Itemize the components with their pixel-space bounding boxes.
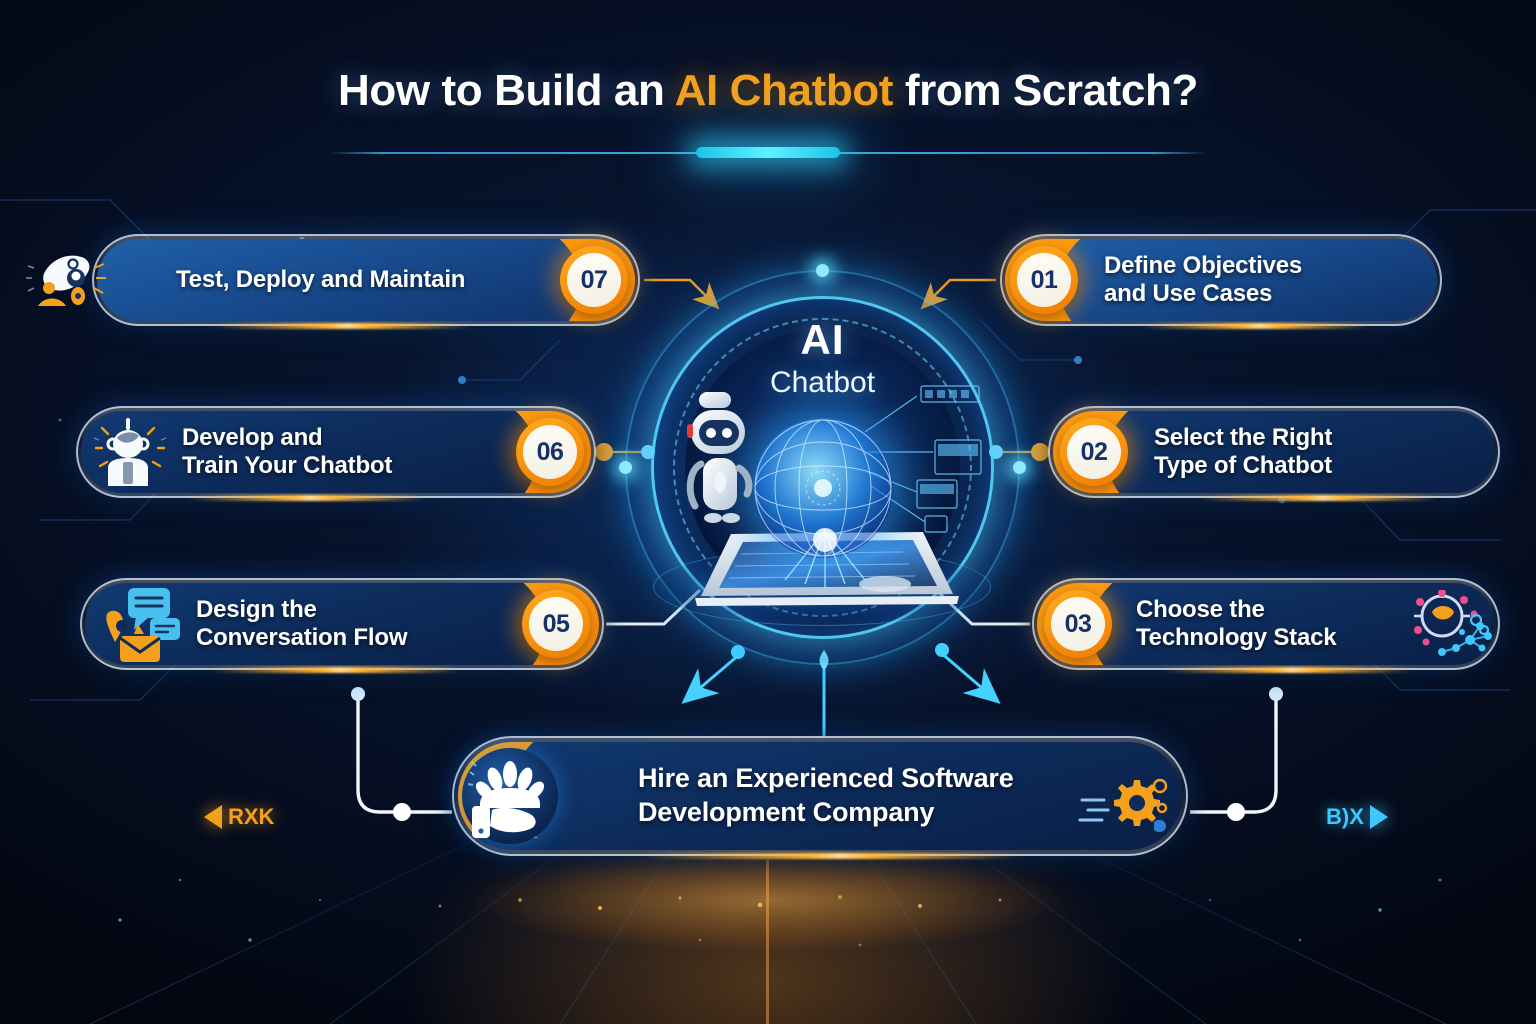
light-burst <box>745 520 905 590</box>
card-label: Hire an Experienced Software Development… <box>638 762 1014 830</box>
card-label: Choose the Technology Stack <box>1136 596 1336 653</box>
card-label-line2: and Use Cases <box>1104 280 1302 308</box>
corner-right-glyph: B)X <box>1326 804 1364 830</box>
card-glow-bar <box>642 853 1022 859</box>
step-card-03[interactable]: 03 Choose the Technology Stack <box>1032 578 1500 670</box>
corner-decoration-left: RXK <box>204 804 274 830</box>
ring-node-left <box>619 461 632 474</box>
title-post: from Scratch? <box>893 66 1198 115</box>
center-label-sub: Chatbot <box>625 366 1020 400</box>
center-hologram: AI Chatbot <box>625 270 1020 665</box>
step-number: 02 <box>1067 425 1121 479</box>
play-left-icon <box>204 805 222 829</box>
card-label-line1: Test, Deploy and Maintain <box>176 266 465 293</box>
robot-mascot-icon <box>677 390 763 530</box>
card-label-line2: Type of Chatbot <box>1154 452 1332 480</box>
card-glow-bar <box>186 495 426 501</box>
infographic-canvas: How to Build an AI Chatbot from Scratch?… <box>0 0 1536 1024</box>
corner-decoration-right: B)X <box>1326 804 1388 830</box>
step-card-05[interactable]: Design the Conversation Flow 05 <box>80 578 604 670</box>
card-label-line2: Development Company <box>638 796 1014 830</box>
step-card-04[interactable]: Hire an Experienced Software Development… <box>452 736 1188 856</box>
card-glow-bar <box>1198 495 1438 501</box>
card-glow-bar <box>1162 667 1412 673</box>
step-card-07[interactable]: Test, Deploy and Maintain 07 <box>92 234 640 326</box>
title-pre: How to Build an <box>338 66 675 115</box>
card-label-line1: Define Objectives <box>1104 252 1302 279</box>
step-card-06[interactable]: Develop and Train Your Chatbot 06 <box>76 406 596 498</box>
center-label-main: AI <box>625 316 1020 364</box>
step-card-01[interactable]: 01 Define Objectives and Use Cases <box>1000 234 1442 326</box>
play-right-icon <box>1370 805 1388 829</box>
handshake-team-icon <box>462 748 558 844</box>
step-number: 01 <box>1017 253 1071 307</box>
card-glow-bar <box>212 323 472 329</box>
title-divider-glow <box>696 147 840 158</box>
center-label: AI Chatbot <box>625 316 1020 400</box>
step-badge-03: 03 <box>1044 590 1112 658</box>
step-badge-01: 01 <box>1010 246 1078 314</box>
corner-left-glyph: RXK <box>228 804 274 830</box>
step-badge-07: 07 <box>560 246 628 314</box>
step-badge-02: 02 <box>1060 418 1128 486</box>
page-title: How to Build an AI Chatbot from Scratch? <box>0 66 1536 116</box>
step-card-02[interactable]: 02 Select the Right Type of Chatbot <box>1048 406 1500 498</box>
ring-node-top <box>816 264 829 277</box>
tech-network-icon <box>1404 590 1496 660</box>
card-label: Define Objectives and Use Cases <box>1104 252 1302 309</box>
step-badge-06: 06 <box>516 418 584 486</box>
step-number: 05 <box>529 597 583 651</box>
chat-bubbles-icon <box>100 584 182 664</box>
card-label-line1: Design the <box>196 596 317 623</box>
gear-settings-icon <box>1078 774 1170 836</box>
rocket-launch-icon <box>26 244 118 316</box>
card-label-line2: Conversation Flow <box>196 624 407 652</box>
robot-trainer-icon <box>92 414 168 490</box>
step-number: 07 <box>567 253 621 307</box>
card-glow-bar <box>1140 323 1370 329</box>
card-label-line2: Technology Stack <box>1136 624 1336 652</box>
step-badge-05: 05 <box>522 590 590 658</box>
title-highlight: AI Chatbot <box>675 66 893 115</box>
step-number: 06 <box>523 425 577 479</box>
card-label: Design the Conversation Flow <box>196 596 407 653</box>
card-label-line1: Choose the <box>1136 596 1265 623</box>
card-label-line2: Train Your Chatbot <box>182 452 392 480</box>
card-glow-bar <box>210 667 460 673</box>
step-number: 03 <box>1051 597 1105 651</box>
card-label-line1: Select the Right <box>1154 424 1332 451</box>
card-label: Test, Deploy and Maintain <box>176 266 465 294</box>
card-label-line1: Hire an Experienced Software <box>638 763 1014 793</box>
card-label: Select the Right Type of Chatbot <box>1154 424 1332 481</box>
card-label: Develop and Train Your Chatbot <box>182 424 392 481</box>
card-label-line1: Develop and <box>182 424 323 451</box>
